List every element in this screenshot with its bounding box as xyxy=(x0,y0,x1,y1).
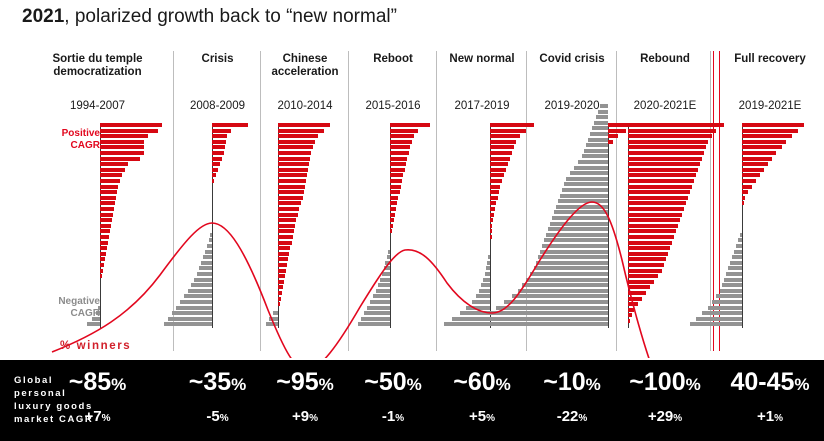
negative-bar xyxy=(728,266,742,270)
negative-bar xyxy=(690,322,742,326)
positive-bar xyxy=(390,134,414,138)
positive-bar xyxy=(100,246,107,250)
column-years-8: 2019-2021E xyxy=(722,100,818,112)
positive-bar xyxy=(490,201,496,205)
positive-bar xyxy=(742,151,776,155)
negative-bar xyxy=(534,266,608,270)
positive-bar xyxy=(278,302,280,306)
positive-bar xyxy=(100,257,105,261)
winners-percent-6: ~10% xyxy=(528,368,616,397)
positive-bar xyxy=(278,235,293,239)
negative-bar xyxy=(385,261,390,265)
negative-bar xyxy=(546,233,608,237)
positive-bar xyxy=(100,252,106,256)
negative-bar xyxy=(586,143,608,147)
negative-bar xyxy=(209,238,212,242)
positive-bar xyxy=(390,213,395,217)
negative-bar xyxy=(590,132,608,136)
positive-bar xyxy=(278,297,281,301)
negative-bar xyxy=(556,205,608,209)
negative-bar xyxy=(361,317,390,321)
positive-bar xyxy=(628,241,672,245)
positive-bar xyxy=(628,196,688,200)
positive-bar xyxy=(628,257,666,261)
chart-column-4: Reboot2015-2016 xyxy=(350,45,436,358)
negative-bar xyxy=(199,266,212,270)
positive-bar xyxy=(742,179,756,183)
negative-bar xyxy=(734,250,742,254)
positive-bar xyxy=(390,185,401,189)
positive-bar xyxy=(278,134,318,138)
chart-column-3: Chineseacceleration2010-2014 xyxy=(262,45,348,358)
positive-bar xyxy=(390,129,418,133)
negative-bar xyxy=(548,227,608,231)
positive-bar xyxy=(278,129,324,133)
column-title-4: Reboot xyxy=(350,53,436,66)
positive-bar xyxy=(608,134,618,138)
column-years-2: 2008-2009 xyxy=(175,100,260,112)
positive-bar xyxy=(628,185,692,189)
positive-bar xyxy=(628,168,698,172)
chart-column-6: Covid crisis2019-2020 xyxy=(528,45,616,358)
positive-bar xyxy=(100,263,104,267)
negative-bar xyxy=(207,244,212,248)
positive-bar xyxy=(742,173,760,177)
market-cagr-6: -22% xyxy=(528,408,616,425)
negative-bar xyxy=(504,300,608,304)
column-title-line1: Crisis xyxy=(175,53,260,66)
column-title-line1: Reboot xyxy=(350,53,436,66)
chart-column-8: Full recovery2019-2021E xyxy=(722,45,818,358)
positive-bar xyxy=(390,162,406,166)
negative-bar xyxy=(194,278,212,282)
positive-bar xyxy=(490,140,516,144)
negative-bar xyxy=(732,255,742,259)
negative-bar xyxy=(387,255,390,259)
positive-bar xyxy=(278,241,292,245)
negative-bar xyxy=(460,311,490,315)
title-rest: , polarized growth back to “new normal” xyxy=(64,6,397,27)
column-title-2: Crisis xyxy=(175,53,260,66)
positive-bar xyxy=(278,263,287,267)
positive-bar xyxy=(628,263,664,267)
negative-bar xyxy=(570,171,608,175)
negative-bar xyxy=(364,311,390,315)
market-cagr-4: -1% xyxy=(350,408,436,425)
positive-bar xyxy=(628,173,696,177)
negative-bar xyxy=(197,272,212,276)
positive-bar xyxy=(490,151,512,155)
positive-bar xyxy=(278,173,307,177)
negative-bar xyxy=(596,115,608,119)
positive-bar xyxy=(628,123,724,127)
positive-bar xyxy=(278,140,315,144)
positive-bar xyxy=(490,229,492,233)
positive-bar xyxy=(490,162,508,166)
winners-percent-8: 40-45% xyxy=(722,368,818,397)
market-cagr-7: +29% xyxy=(618,408,712,425)
positive-bar xyxy=(100,140,144,144)
band-cell-6: ~10%-22% xyxy=(528,360,616,441)
negative-cagr-label-line2: CAGR xyxy=(20,308,100,320)
market-cagr-1: +7% xyxy=(22,408,173,425)
positive-bar xyxy=(628,274,658,278)
positive-bar xyxy=(628,313,632,317)
negative-bar xyxy=(203,255,212,259)
positive-bar xyxy=(212,173,216,177)
positive-bar xyxy=(490,157,510,161)
negative-bar xyxy=(726,272,742,276)
column-title-line2: democratization xyxy=(22,66,173,79)
negative-bar xyxy=(736,244,742,248)
column-plot-8 xyxy=(722,123,818,328)
cagr-summary-band: Globalpersonalluxury goodsmarket CAGR ~8… xyxy=(0,360,824,441)
positive-bar xyxy=(628,134,712,138)
column-title-line1: New normal xyxy=(438,53,526,66)
column-divider-2 xyxy=(260,51,261,351)
positive-bar xyxy=(278,168,308,172)
winners-percent-2: ~35% xyxy=(175,368,260,397)
positive-bar xyxy=(100,207,114,211)
positive-bar xyxy=(490,207,495,211)
positive-bar xyxy=(278,224,295,228)
positive-bar xyxy=(390,179,402,183)
negative-bar xyxy=(738,238,742,242)
negative-bar xyxy=(562,188,608,192)
positive-bar xyxy=(490,145,514,149)
positive-bar xyxy=(490,218,493,222)
winners-percent-3: ~95% xyxy=(262,368,348,397)
positive-bar xyxy=(212,123,248,127)
positive-bar xyxy=(628,291,646,295)
negative-bar xyxy=(582,154,608,158)
column-divider-6 xyxy=(616,51,617,351)
positive-bar xyxy=(278,162,309,166)
zero-axis-6 xyxy=(608,123,609,328)
positive-bar xyxy=(390,190,400,194)
negative-bar xyxy=(550,222,608,226)
negative-bar xyxy=(201,261,212,265)
negative-bar xyxy=(594,121,608,125)
positive-bar xyxy=(390,173,403,177)
negative-bar xyxy=(172,311,212,315)
negative-bar xyxy=(722,283,742,287)
winners-percent-4: ~50% xyxy=(350,368,436,397)
positive-bar xyxy=(390,201,397,205)
positive-bar xyxy=(100,269,103,273)
negative-bar xyxy=(376,289,390,293)
negative-bar xyxy=(588,138,608,142)
positive-bar xyxy=(278,179,306,183)
negative-bar xyxy=(373,294,390,298)
negative-bar xyxy=(578,160,608,164)
column-title-line2: acceleration xyxy=(262,66,348,79)
column-title-6: Covid crisis xyxy=(528,53,616,66)
chart-column-2: Crisis2008-2009 xyxy=(175,45,260,358)
market-cagr-5: +5% xyxy=(438,408,526,425)
positive-bar xyxy=(278,274,285,278)
positive-bar xyxy=(490,185,500,189)
positive-bar xyxy=(100,235,109,239)
negative-bar xyxy=(512,294,608,298)
positive-bar xyxy=(100,201,115,205)
negative-bar xyxy=(358,322,390,326)
negative-bar xyxy=(518,289,608,293)
positive-bar xyxy=(390,168,405,172)
market-cagr-8: +1% xyxy=(722,408,818,425)
positive-bar xyxy=(278,123,330,127)
positive-bar xyxy=(742,185,752,189)
winners-percent-7: ~100% xyxy=(618,368,712,397)
column-title-line1: Covid crisis xyxy=(528,53,616,66)
negative-bar xyxy=(724,278,742,282)
positive-bar xyxy=(278,229,294,233)
band-cell-1: ~85%+7% xyxy=(22,360,173,441)
positive-bar xyxy=(628,201,686,205)
column-plot-7 xyxy=(618,123,712,328)
positive-bar xyxy=(628,302,638,306)
positive-bar xyxy=(100,162,128,166)
positive-bar xyxy=(212,162,220,166)
positive-bar xyxy=(628,235,674,239)
positive-bar xyxy=(628,218,680,222)
positive-bar xyxy=(490,224,492,228)
positive-bar xyxy=(278,246,290,250)
positive-bar xyxy=(278,213,298,217)
negative-bar xyxy=(188,289,212,293)
positive-bar xyxy=(628,129,716,133)
band-cell-2: ~35%-5% xyxy=(175,360,260,441)
band-cell-3: ~95%+9% xyxy=(262,360,348,441)
positive-bar xyxy=(390,218,394,222)
negative-bar xyxy=(483,278,490,282)
negative-bar xyxy=(584,149,608,153)
column-title-3: Chineseacceleration xyxy=(262,53,348,79)
positive-bar xyxy=(278,196,303,200)
positive-bar xyxy=(390,140,412,144)
positive-bar xyxy=(628,140,708,144)
negative-bar xyxy=(472,300,490,304)
negative-bar xyxy=(530,272,608,276)
column-years-1: 1994-2007 xyxy=(22,100,173,112)
positive-bar xyxy=(628,145,706,149)
negative-bar xyxy=(176,306,212,310)
positive-bar xyxy=(628,246,670,250)
positive-bar xyxy=(608,140,613,144)
positive-bar xyxy=(742,162,768,166)
negative-bar xyxy=(481,283,490,287)
negative-bar xyxy=(269,317,278,321)
column-title-line1: Sortie du temple xyxy=(22,53,173,66)
negative-bar xyxy=(466,306,490,310)
negative-bar xyxy=(540,250,608,254)
negative-bar xyxy=(486,266,490,270)
positive-bar xyxy=(742,145,782,149)
positive-bar xyxy=(278,280,284,284)
negative-bar xyxy=(382,272,390,276)
negative-bar xyxy=(730,261,742,265)
negative-bar xyxy=(526,278,608,282)
positive-bar xyxy=(390,207,396,211)
negative-bar xyxy=(164,322,212,326)
negative-bar xyxy=(210,233,212,237)
column-years-4: 2015-2016 xyxy=(350,100,436,112)
band-cell-4: ~50%-1% xyxy=(350,360,436,441)
positive-bar xyxy=(628,213,682,217)
positive-bar xyxy=(628,297,642,301)
band-cell-7: ~100%+29% xyxy=(618,360,712,441)
negative-bar xyxy=(716,294,742,298)
positive-bar xyxy=(628,229,676,233)
column-divider-4 xyxy=(436,51,437,351)
positive-bar xyxy=(278,291,282,295)
negative-bar xyxy=(168,317,212,321)
negative-bar xyxy=(370,300,390,304)
negative-bar xyxy=(184,294,212,298)
positive-bar xyxy=(100,224,111,228)
positive-bar xyxy=(490,168,506,172)
chart-area: Sortie du templedemocratization1994-2007… xyxy=(0,45,824,358)
negative-bar xyxy=(384,266,390,270)
column-plot-3 xyxy=(262,123,348,328)
percent-winners-label: % winners xyxy=(60,340,131,352)
negative-bar xyxy=(485,272,490,276)
negative-bar xyxy=(87,322,100,326)
negative-bar xyxy=(536,261,608,265)
positive-bar xyxy=(100,213,113,217)
page-title: 2021, polarized growth back to “new norm… xyxy=(22,6,397,28)
positive-bar xyxy=(628,157,702,161)
positive-bar xyxy=(100,145,144,149)
negative-bar xyxy=(388,250,390,254)
negative-bar xyxy=(205,250,212,254)
positive-bar xyxy=(100,123,162,127)
column-years-5: 2017-2019 xyxy=(438,100,526,112)
column-plot-4 xyxy=(350,123,436,328)
column-title-line1: Full recovery xyxy=(722,53,818,66)
negative-bar xyxy=(598,110,608,114)
positive-bar xyxy=(628,190,690,194)
positive-bar xyxy=(628,224,678,228)
column-plot-6 xyxy=(528,123,616,328)
positive-bar xyxy=(742,157,772,161)
positive-bar xyxy=(100,157,140,161)
positive-bar xyxy=(278,157,310,161)
chart-column-7: Rebound2020-2021E xyxy=(618,45,712,358)
positive-bar xyxy=(100,168,125,172)
market-cagr-3: +9% xyxy=(262,408,348,425)
positive-bar xyxy=(100,179,120,183)
positive-bar xyxy=(628,252,668,256)
column-title-line1: Chinese xyxy=(262,53,348,66)
negative-cagr-label-line1: Negative xyxy=(20,296,100,308)
negative-bar xyxy=(488,255,490,259)
positive-bar xyxy=(628,207,684,211)
positive-bar xyxy=(212,129,231,133)
column-divider-3 xyxy=(348,51,349,351)
negative-bar xyxy=(487,261,490,265)
positive-bar xyxy=(212,151,224,155)
negative-bar xyxy=(273,311,278,315)
positive-bar xyxy=(212,179,214,183)
positive-bar xyxy=(390,229,392,233)
column-years-3: 2010-2014 xyxy=(262,100,348,112)
positive-bar xyxy=(742,140,786,144)
positive-bar xyxy=(490,190,499,194)
negative-bar xyxy=(191,283,212,287)
negative-bar xyxy=(558,199,608,203)
negative-bar xyxy=(496,306,608,310)
negative-bar xyxy=(592,126,608,130)
column-plot-2 xyxy=(175,123,260,328)
positive-cagr-label-line1: Positive xyxy=(40,128,100,140)
positive-bar xyxy=(628,285,650,289)
positive-bar xyxy=(100,190,117,194)
negative-bar xyxy=(478,317,608,321)
negative-bar xyxy=(542,244,608,248)
column-title-8: Full recovery xyxy=(722,53,818,66)
positive-bar xyxy=(390,157,407,161)
column-divider-1 xyxy=(173,51,174,351)
negative-bar xyxy=(538,255,608,259)
positive-bar xyxy=(490,179,502,183)
positive-bar xyxy=(490,134,520,138)
positive-bar xyxy=(278,257,288,261)
positive-bar xyxy=(100,173,122,177)
positive-bar xyxy=(390,151,409,155)
positive-bar xyxy=(100,129,158,133)
positive-bar xyxy=(490,235,492,239)
positive-bar xyxy=(100,196,116,200)
positive-bar xyxy=(278,190,304,194)
market-cagr-2: -5% xyxy=(175,408,260,425)
negative-bar xyxy=(566,177,608,181)
positive-bar xyxy=(628,280,654,284)
negative-bar xyxy=(544,238,608,242)
negative-bar xyxy=(180,300,212,304)
positive-bar xyxy=(100,241,108,245)
positive-bar xyxy=(100,151,144,155)
positive-bar xyxy=(278,285,283,289)
negative-bar xyxy=(696,317,742,321)
positive-bar xyxy=(212,157,222,161)
positive-bar xyxy=(278,207,299,211)
positive-bar xyxy=(742,168,764,172)
negative-bar xyxy=(266,322,278,326)
positive-bar xyxy=(278,218,296,222)
positive-bar xyxy=(742,129,798,133)
positive-bar xyxy=(100,185,118,189)
negative-bar xyxy=(522,283,608,287)
positive-bar xyxy=(390,123,430,127)
positive-bar xyxy=(212,168,218,172)
positive-bar xyxy=(628,151,704,155)
positive-bar xyxy=(278,201,301,205)
column-title-5: New normal xyxy=(438,53,526,66)
column-title-7: Rebound xyxy=(618,53,712,66)
positive-bar xyxy=(490,213,494,217)
negative-bar xyxy=(564,182,608,186)
negative-bar xyxy=(468,322,608,326)
positive-bar xyxy=(390,145,410,149)
positive-bar xyxy=(742,196,745,200)
positive-bar xyxy=(390,196,398,200)
negative-bar xyxy=(367,306,390,310)
winners-percent-5: ~60% xyxy=(438,368,526,397)
positive-bar xyxy=(100,229,110,233)
negative-bar xyxy=(554,210,608,214)
positive-bar xyxy=(212,145,225,149)
